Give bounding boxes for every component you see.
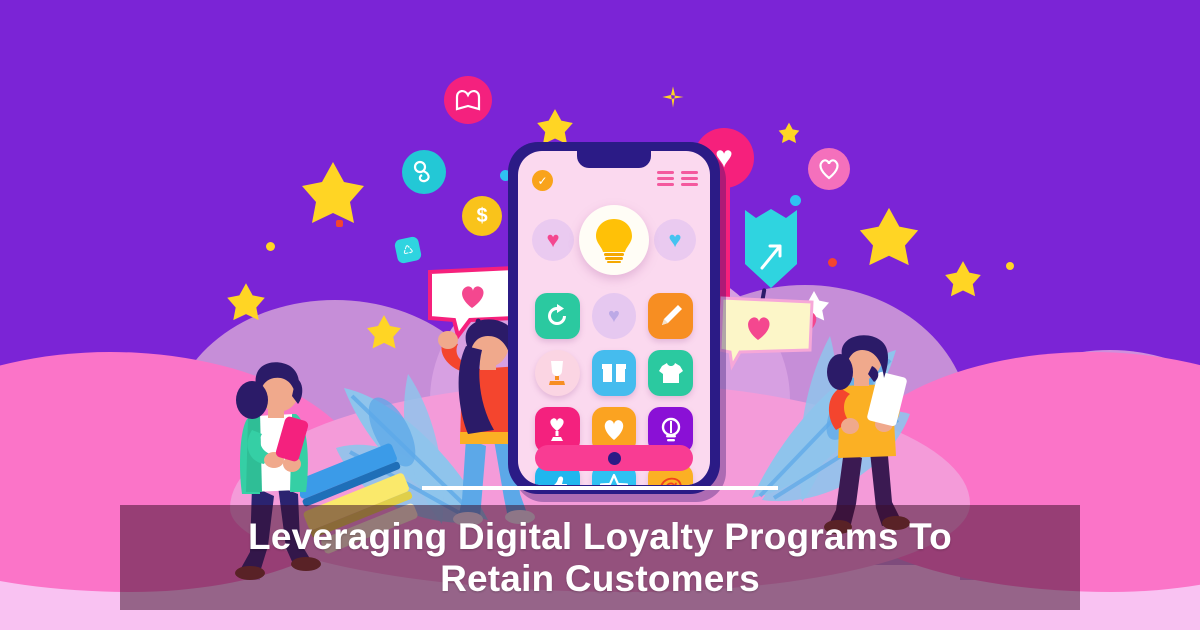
- star-icon: [366, 314, 402, 355]
- illustration-canvas: $ ♺ ♥: [0, 0, 1200, 630]
- heart-icon-pink-tile[interactable]: ♥: [532, 219, 574, 261]
- menu-lines-icon[interactable]: [657, 171, 698, 186]
- gift-icon[interactable]: [592, 350, 637, 396]
- coin-badge: $: [462, 196, 502, 236]
- smartphone-mockup: ✓ ♥ ♥: [508, 142, 720, 494]
- check-badge[interactable]: ✓: [532, 170, 553, 191]
- star-icon: [778, 122, 800, 149]
- star-icon: [660, 84, 686, 115]
- heart-icon-pink: ♥: [546, 229, 559, 251]
- ribbon-badge: [402, 150, 446, 194]
- dot-accent: [266, 242, 275, 251]
- home-indicator-dot: [608, 452, 621, 465]
- page-title-line-1: Leveraging Digital Loyalty Programs To: [134, 516, 1066, 558]
- phone-notch: [577, 151, 651, 168]
- at-sign-glyph: @: [658, 474, 683, 485]
- shirt-icon[interactable]: [648, 350, 693, 396]
- heart-outline-badge: [808, 148, 850, 190]
- menu-lines-group: [681, 171, 698, 186]
- coin-badge-label: $: [476, 205, 487, 228]
- pencil-icon[interactable]: [648, 293, 693, 339]
- heart-icon-blue-tile[interactable]: ♥: [654, 219, 696, 261]
- small-square-badge: ♺: [394, 236, 422, 264]
- dot-accent: [790, 195, 801, 206]
- check-badge-glyph: ✓: [537, 174, 547, 188]
- tag-badge: [742, 206, 800, 297]
- menu-lines-group: [657, 171, 674, 186]
- page-title: Leveraging Digital Loyalty Programs To R…: [120, 516, 1080, 600]
- heart-icon-soft[interactable]: ♥: [592, 293, 637, 339]
- lightbulb-icon-hero[interactable]: [579, 205, 649, 275]
- trophy-icon[interactable]: [535, 350, 580, 396]
- dot-accent: [828, 258, 837, 267]
- star-icon: [944, 260, 982, 303]
- refresh-icon[interactable]: [535, 293, 580, 339]
- small-square-badge-glyph: ♺: [401, 242, 414, 258]
- star-icon: [300, 160, 366, 231]
- dot-accent: [1006, 262, 1014, 270]
- star-icon: [858, 206, 920, 273]
- book-badge: [444, 76, 492, 124]
- home-indicator[interactable]: [535, 445, 693, 471]
- dot-accent: [336, 220, 343, 227]
- title-overlay: Leveraging Digital Loyalty Programs To R…: [120, 505, 1080, 610]
- page-title-line-2: Retain Customers: [134, 558, 1066, 600]
- star-icon: [226, 282, 266, 327]
- phone-screen: ✓ ♥ ♥: [518, 151, 710, 485]
- heart-icon-blue: ♥: [668, 229, 681, 251]
- title-divider-line: [422, 486, 778, 490]
- heart-icon-soft-glyph: ♥: [608, 306, 620, 326]
- speech-bubble-right: [714, 294, 818, 377]
